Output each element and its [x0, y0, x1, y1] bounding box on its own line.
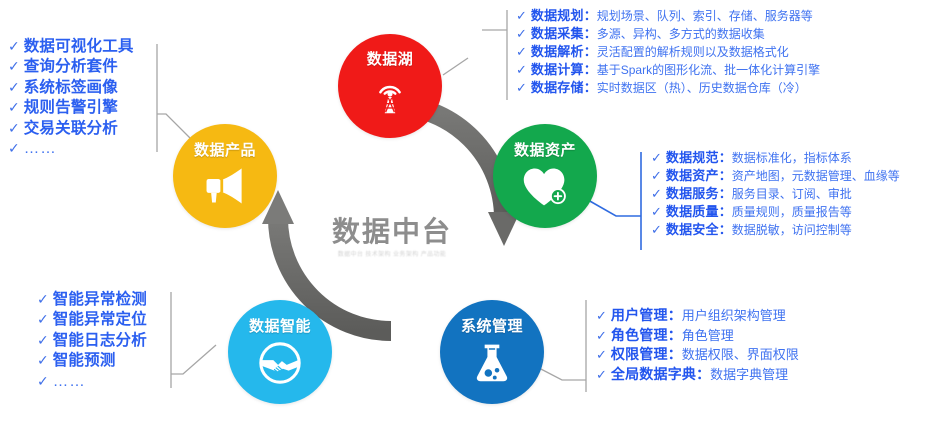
- list-item-label: 智能异常检测: [53, 291, 147, 309]
- list-item-desc: 角色管理: [682, 328, 734, 343]
- list-item: ✓数据规范：数据标准化，指标体系: [651, 150, 900, 166]
- node-data-intelligence[interactable]: 数据智能: [228, 300, 332, 404]
- node-data-assets[interactable]: 数据资产: [493, 124, 597, 228]
- list-item-desc: 实时数据区（热）、历史数据仓库（冷）: [597, 82, 807, 96]
- list-item-desc: 用户组织架构管理: [682, 308, 786, 323]
- list-item-label: 智能预测: [53, 352, 116, 370]
- connector-data-products: [157, 44, 192, 152]
- colon: ：: [668, 346, 682, 362]
- list-item-desc: 服务目录、订阅、审批: [732, 188, 852, 202]
- colon: ：: [719, 204, 732, 219]
- list-item: ✓……: [8, 140, 134, 158]
- colon: ：: [584, 8, 597, 23]
- check-icon: ✓: [651, 168, 662, 183]
- list-data-assets: ✓数据规范：数据标准化，指标体系 ✓数据资产：资产地图，元数据管理、血缘等 ✓数…: [651, 150, 900, 240]
- list-item: ✓智能日志分析: [37, 332, 147, 350]
- check-icon: ✓: [516, 44, 527, 59]
- list-item: ✓智能异常定位: [37, 311, 147, 329]
- node-system-management-label: 系统管理: [461, 315, 523, 336]
- list-item: ✓数据质量：质量规则，质量报告等: [651, 204, 900, 220]
- list-item-label: 角色管理: [611, 327, 668, 343]
- check-icon: ✓: [8, 99, 20, 115]
- list-item: ✓数据服务：服务目录、订阅、审批: [651, 186, 900, 202]
- list-item: ✓智能预测: [37, 352, 147, 370]
- list-item-desc: 资产地图，元数据管理、血缘等: [732, 170, 900, 184]
- check-icon: ✓: [37, 373, 49, 389]
- colon: ：: [584, 44, 597, 59]
- list-data-intelligence: ✓智能异常检测 ✓智能异常定位 ✓智能日志分析 ✓智能预测 ✓……: [37, 291, 147, 393]
- list-item-label: ……: [24, 140, 57, 158]
- node-system-management[interactable]: 系统管理: [440, 300, 544, 404]
- list-item-label: 系统标签画像: [24, 79, 118, 97]
- node-data-products[interactable]: 数据产品: [173, 124, 277, 228]
- list-item: ✓全局数据字典：数据字典管理: [596, 366, 799, 382]
- check-icon: ✓: [651, 222, 662, 237]
- list-system-management: ✓用户管理：用户组织架构管理 ✓角色管理：角色管理 ✓权限管理：数据权限、界面权…: [596, 307, 799, 386]
- check-icon: ✓: [37, 311, 49, 327]
- list-item-desc: 规划场景、队列、索引、存储、服务器等: [597, 10, 813, 24]
- colon: ：: [696, 366, 710, 382]
- list-item-label: 用户管理: [611, 307, 668, 323]
- list-item-desc: 基于Spark的图形化流、批一体化计算引擎: [597, 64, 820, 78]
- list-item: ✓数据解析：灵活配置的解析规则以及数据格式化: [516, 44, 820, 60]
- colon: ：: [719, 222, 732, 237]
- check-icon: ✓: [516, 62, 527, 77]
- list-item-label: 数据计算: [531, 62, 584, 77]
- colon: ：: [668, 307, 682, 323]
- check-icon: ✓: [516, 8, 527, 23]
- list-item-label: 权限管理: [611, 346, 668, 362]
- connector-data-intelligence: [171, 292, 216, 388]
- list-item: ✓……: [37, 373, 147, 391]
- node-data-lake-label: 数据湖: [367, 48, 414, 69]
- list-item: ✓交易关联分析: [8, 120, 134, 138]
- check-icon: ✓: [596, 367, 607, 382]
- check-icon: ✓: [8, 58, 20, 74]
- list-item: ✓系统标签画像: [8, 79, 134, 97]
- check-icon: ✓: [37, 291, 49, 307]
- heart-plus-icon: [521, 164, 569, 208]
- list-item-label: 数据服务: [666, 186, 719, 201]
- list-item: ✓智能异常检测: [37, 291, 147, 309]
- list-item-label: 数据采集: [531, 26, 584, 41]
- check-icon: ✓: [651, 150, 662, 165]
- check-icon: ✓: [37, 332, 49, 348]
- list-item-desc: 数据权限、界面权限: [682, 347, 799, 362]
- connector-system-management: [537, 300, 586, 392]
- check-icon: ✓: [651, 186, 662, 201]
- colon: ：: [584, 80, 597, 95]
- list-item-label: 数据可视化工具: [24, 38, 134, 56]
- list-item: ✓查询分析套件: [8, 58, 134, 76]
- list-data-products: ✓数据可视化工具 ✓查询分析套件 ✓系统标签画像 ✓规则告警引擎 ✓交易关联分析…: [8, 38, 134, 161]
- list-item-label: 数据质量: [666, 204, 719, 219]
- list-item: ✓用户管理：用户组织架构管理: [596, 307, 799, 323]
- node-data-intelligence-label: 数据智能: [249, 315, 311, 336]
- check-icon: ✓: [37, 352, 49, 368]
- colon: ：: [719, 168, 732, 183]
- list-item-label: 数据安全: [666, 222, 719, 237]
- list-item-desc: 数据标准化，指标体系: [732, 152, 852, 166]
- node-data-assets-label: 数据资产: [514, 139, 576, 160]
- check-icon: ✓: [8, 79, 20, 95]
- check-icon: ✓: [596, 308, 607, 323]
- check-icon: ✓: [596, 328, 607, 343]
- list-item-label: 交易关联分析: [24, 120, 118, 138]
- list-item-label: 智能日志分析: [53, 332, 147, 350]
- list-item-desc: 多源、异构、多方式的数据收集: [597, 28, 765, 42]
- handshake-icon: [257, 340, 303, 386]
- connector-data-lake: [443, 10, 507, 100]
- list-item: ✓数据存储：实时数据区（热）、历史数据仓库（冷）: [516, 80, 820, 96]
- colon: ：: [584, 26, 597, 41]
- list-item-label: 全局数据字典: [611, 366, 696, 382]
- node-data-products-label: 数据产品: [194, 139, 256, 160]
- colon: ：: [719, 186, 732, 201]
- check-icon: ✓: [516, 80, 527, 95]
- check-icon: ✓: [596, 347, 607, 362]
- list-item: ✓角色管理：角色管理: [596, 327, 799, 343]
- diagram-canvas: 数据中台 数据中台 技术架构 业务架构 产品功能 数据湖 数据资产: [0, 0, 931, 428]
- list-item: ✓权限管理：数据权限、界面权限: [596, 346, 799, 362]
- check-icon: ✓: [8, 38, 20, 54]
- list-item: ✓数据采集：多源、异构、多方式的数据收集: [516, 26, 820, 42]
- list-item: ✓数据可视化工具: [8, 38, 134, 56]
- list-item-label: 数据存储: [531, 80, 584, 95]
- colon: ：: [584, 62, 597, 77]
- list-item-label: 查询分析套件: [24, 58, 118, 76]
- broadcast-tower-icon: [367, 73, 413, 119]
- megaphone-icon: [201, 164, 249, 206]
- list-item-desc: 质量规则，质量报告等: [732, 206, 852, 220]
- list-item-label: 数据资产: [666, 168, 719, 183]
- list-item-label: 数据解析: [531, 44, 584, 59]
- list-item-label: ……: [53, 373, 86, 391]
- list-item: ✓数据规划：规划场景、队列、索引、存储、服务器等: [516, 8, 820, 24]
- list-data-lake: ✓数据规划：规划场景、队列、索引、存储、服务器等 ✓数据采集：多源、异构、多方式…: [516, 8, 820, 98]
- list-item-label: 数据规范: [666, 150, 719, 165]
- list-item: ✓数据安全：数据脱敏，访问控制等: [651, 222, 900, 238]
- list-item-desc: 灵活配置的解析规则以及数据格式化: [597, 46, 789, 60]
- list-item: ✓数据资产：资产地图，元数据管理、血缘等: [651, 168, 900, 184]
- colon: ：: [668, 327, 682, 343]
- check-icon: ✓: [516, 26, 527, 41]
- check-icon: ✓: [8, 140, 20, 156]
- colon: ：: [719, 150, 732, 165]
- page-title: 数据中台: [312, 210, 472, 250]
- list-item-desc: 数据字典管理: [710, 367, 788, 382]
- list-item-label: 规则告警引擎: [24, 99, 118, 117]
- node-data-lake[interactable]: 数据湖: [338, 34, 442, 138]
- flask-icon: [470, 340, 514, 384]
- list-item: ✓规则告警引擎: [8, 99, 134, 117]
- list-item: ✓数据计算：基于Spark的图形化流、批一体化计算引擎: [516, 62, 820, 78]
- center-subtitle: 数据中台 技术架构 业务架构 产品功能: [312, 249, 472, 258]
- list-item-label: 数据规划: [531, 8, 584, 23]
- check-icon: ✓: [8, 120, 20, 136]
- check-icon: ✓: [651, 204, 662, 219]
- list-item-desc: 数据脱敏，访问控制等: [732, 224, 852, 238]
- list-item-label: 智能异常定位: [53, 311, 147, 329]
